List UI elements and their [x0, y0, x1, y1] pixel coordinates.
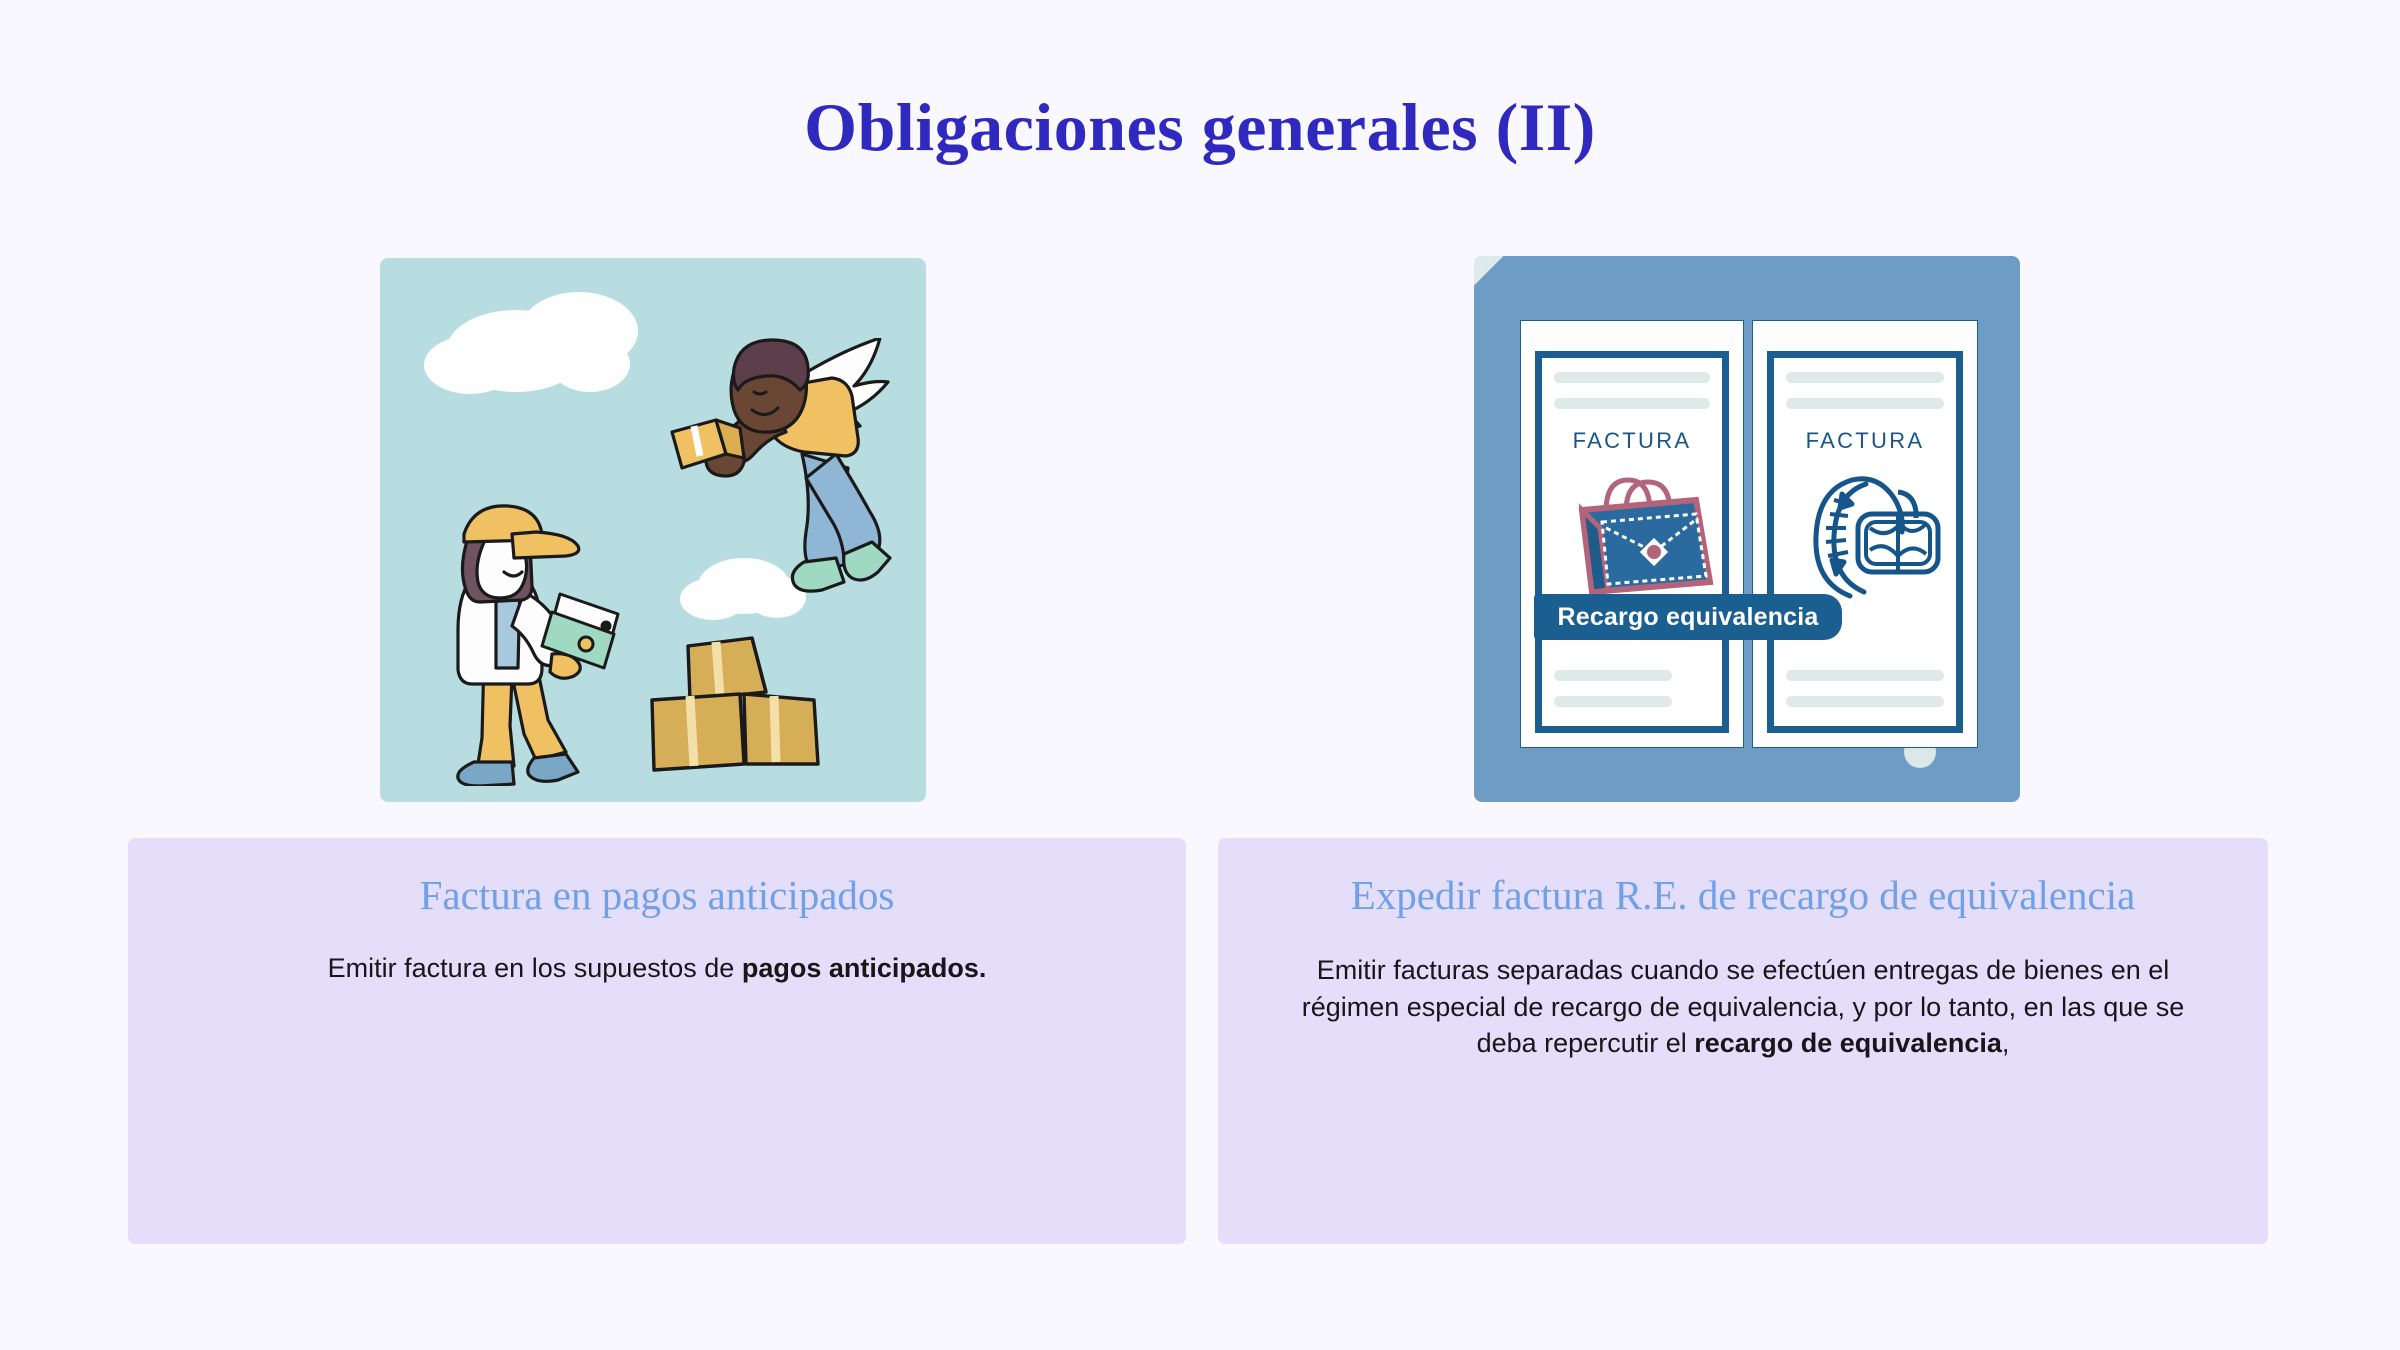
text-placeholder-line [1554, 696, 1672, 707]
invoice-document: FACTURA [1752, 320, 1978, 748]
text-placeholder-line [1786, 670, 1944, 681]
invoice-document: FACTURA [1520, 320, 1744, 748]
separate-invoices-illustration: FACTURA [1474, 256, 2020, 802]
text-placeholder-line [1786, 372, 1944, 383]
invoice-label: FACTURA [1542, 428, 1722, 454]
handbag-icon [1568, 470, 1716, 600]
person-with-cap-holding-cash [440, 476, 640, 786]
card-body-text-tail: , [2002, 1028, 2010, 1058]
text-placeholder-line [1554, 398, 1710, 409]
wristwatch-icon [1804, 466, 1946, 604]
slide-root: Obligaciones generales (II) [0, 0, 2400, 1350]
equivalence-surcharge-card: Expedir factura R.E. de recargo de equiv… [1218, 838, 2268, 1244]
invoice-inner-frame: FACTURA [1535, 351, 1729, 733]
card-body: Emitir factura en los supuestos de pagos… [162, 950, 1152, 987]
text-placeholder-line [1554, 372, 1710, 383]
advance-payments-card: Factura en pagos anticipados Emitir fact… [128, 838, 1186, 1244]
cloud-icon [550, 336, 630, 392]
recargo-equivalencia-ribbon: Recargo equivalencia [1534, 594, 1842, 640]
invoice-inner-frame: FACTURA [1767, 351, 1963, 733]
card-body-emphasis: pagos anticipados. [742, 953, 987, 983]
advance-payment-illustration [380, 258, 926, 802]
text-placeholder-line [1554, 670, 1672, 681]
invoice-label: FACTURA [1774, 428, 1956, 454]
text-placeholder-line [1786, 696, 1944, 707]
text-placeholder-line [1786, 398, 1944, 409]
ribbon-label: Recargo equivalencia [1557, 603, 1818, 632]
stack-of-cardboard-boxes [648, 634, 828, 784]
card-body-text: Emitir factura en los supuestos de [328, 953, 742, 983]
card-title: Expedir factura R.E. de recargo de equiv… [1252, 870, 2234, 920]
card-body: Emitir facturas separadas cuando se efec… [1252, 952, 2234, 1062]
winged-delivery-person-holding-parcel [668, 338, 908, 608]
cloud-icon [424, 336, 516, 394]
card-body-emphasis: recargo de equivalencia [1694, 1028, 2002, 1058]
card-title: Factura en pagos anticipados [162, 870, 1152, 920]
page-title: Obligaciones generales (II) [0, 88, 2400, 167]
